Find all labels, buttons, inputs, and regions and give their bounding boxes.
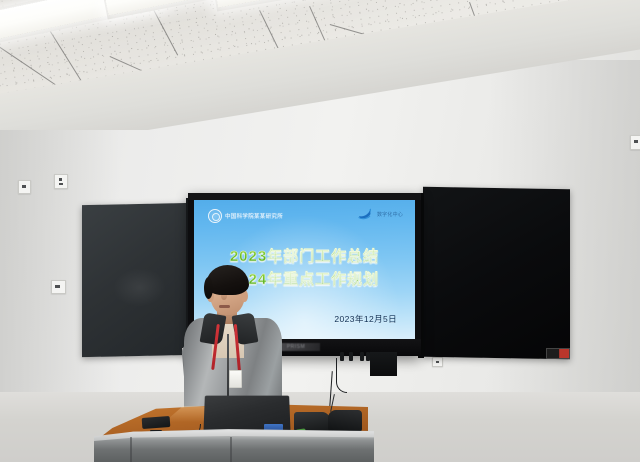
av-equipment-box [370, 352, 397, 376]
cable-jack-2 [349, 352, 353, 361]
wall-outlet-center[interactable] [432, 357, 443, 367]
wall-outlet-left[interactable] [51, 280, 66, 294]
lectern[interactable] [96, 396, 368, 462]
presenter-jacket-zip [227, 334, 229, 404]
chalk-smudge [113, 267, 166, 308]
wall-switch-2[interactable] [54, 174, 68, 189]
cable-jack-3 [360, 352, 364, 361]
lectern-seam-center [230, 437, 232, 462]
display-bezel-top [188, 193, 421, 200]
ceiling [0, 0, 640, 130]
wall-switch-1[interactable] [18, 180, 31, 194]
presenter-mouth [219, 305, 230, 308]
slide-logo-left: 中国科学院某某研究所 [208, 209, 283, 223]
blackboard-panel-right [423, 187, 570, 360]
lectern-seam-left [130, 437, 132, 462]
wall-outlet-right[interactable] [630, 135, 640, 150]
presentation-room-photo: 中国科学院某某研究所 数字化中心 2023年部门工作总结 2024年重点工作规划… [0, 0, 640, 462]
dock-device-right[interactable] [328, 410, 362, 432]
slide-logo-right: 数字化中心 [358, 208, 403, 221]
presenter-hair [206, 265, 249, 295]
institute-seal-icon [208, 209, 222, 223]
bird-logo-icon [358, 208, 374, 221]
cable-jack-4 [366, 352, 370, 361]
blackboard-panel-left [82, 203, 192, 357]
slide-date: 2023年12月5日 [334, 313, 397, 325]
presenter [186, 258, 280, 418]
slide-logo-left-text: 中国科学院某某研究所 [225, 212, 283, 220]
id-badge [229, 370, 242, 388]
slide-logo-right-text: 数字化中心 [377, 211, 403, 218]
blackboard-right-sticker [546, 348, 570, 359]
